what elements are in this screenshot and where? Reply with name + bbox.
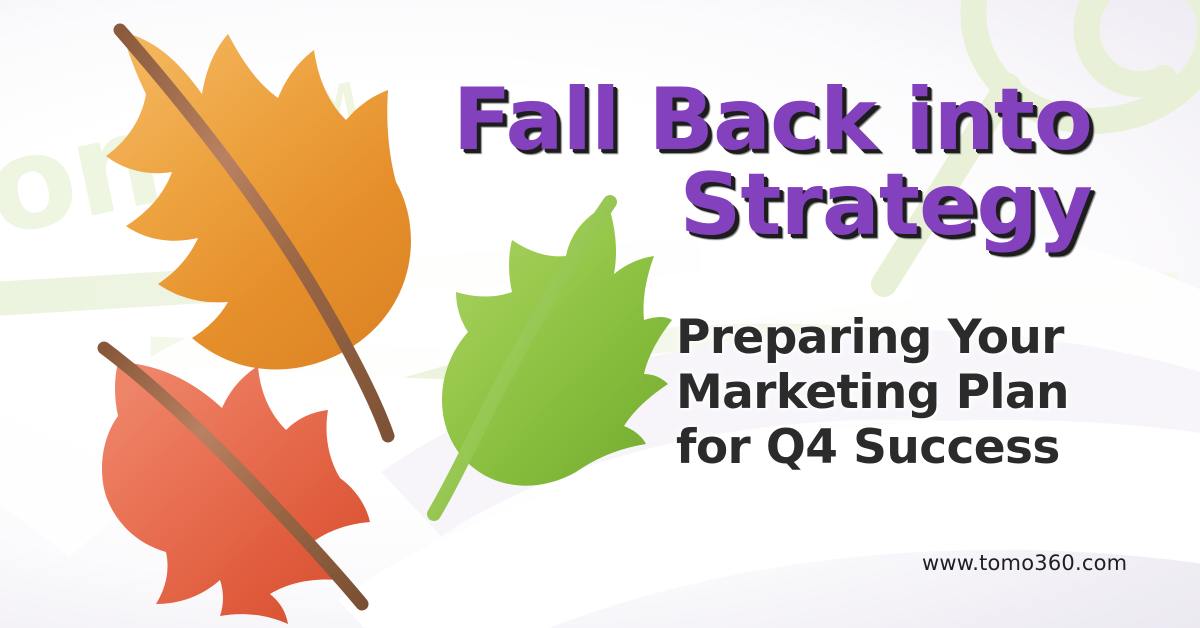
headline-line-1: Fall Back into	[452, 78, 1092, 163]
website-url[interactable]: www.tomo360.com	[922, 551, 1127, 575]
red-oak-leaf	[74, 338, 384, 628]
headline: Fall Back into Strategy	[452, 78, 1092, 248]
social-banner: tomoTM	[0, 0, 1200, 628]
subtitle-line-3: for Q4 Success	[676, 420, 1126, 475]
subtitle-line-1: Preparing Your	[676, 310, 1126, 365]
headline-line-2: Strategy	[452, 163, 1092, 248]
subtitle-line-2: Marketing Plan	[676, 365, 1126, 420]
subtitle: Preparing Your Marketing Plan for Q4 Suc…	[676, 310, 1126, 475]
